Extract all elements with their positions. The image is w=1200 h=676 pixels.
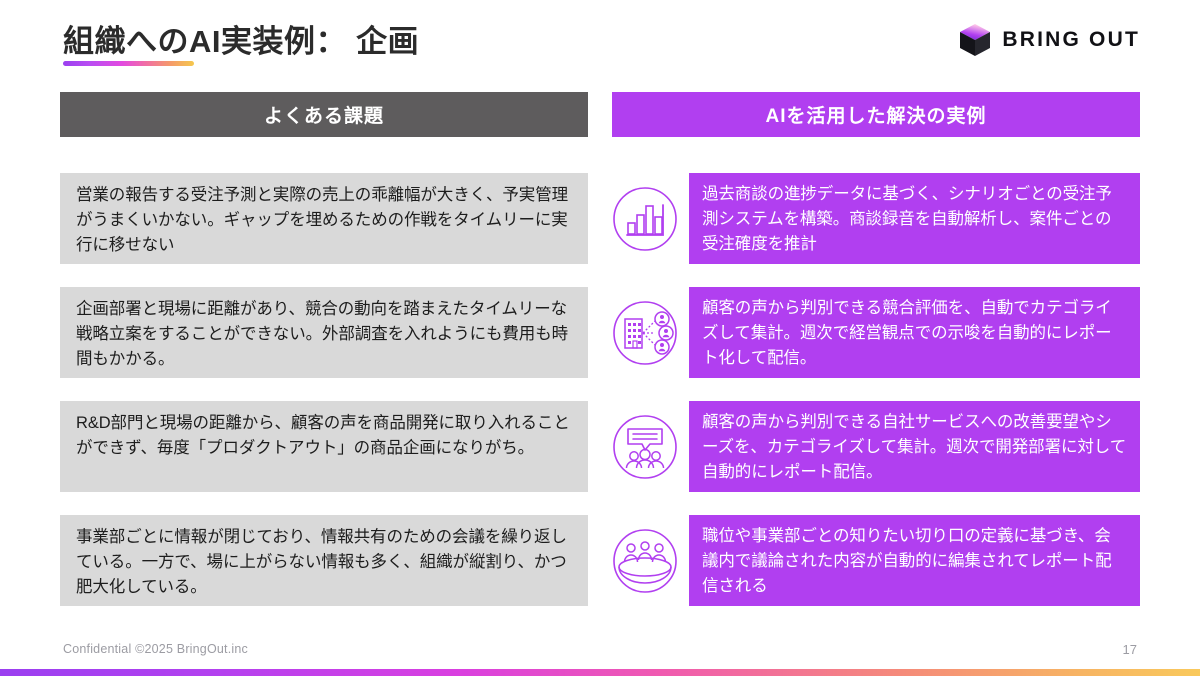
- title-underline-gradient: [63, 61, 194, 66]
- solution-text-box: 顧客の声から判別できる競合評価を、自動でカテゴライズして集計。週次で経営観点での…: [689, 287, 1140, 378]
- solution-card-text: 顧客の声から判別できる自社サービスへの改善要望やシーズを、カテゴライズして集計。…: [702, 410, 1127, 485]
- solution-row[interactable]: 顧客の声から判別できる競合評価を、自動でカテゴライズして集計。週次で経営観点での…: [612, 287, 1140, 378]
- solution-row[interactable]: 過去商談の進捗データに基づく、シナリオごとの受注予測システムを構築。商談録音を自…: [612, 173, 1140, 264]
- cube-logo-icon: [959, 23, 991, 57]
- solution-card-text: 職位や事業部ごとの知りたい切り口の定義に基づき、会議内で議論された内容が自動的に…: [702, 524, 1127, 599]
- speech-bubble-people-icon: [612, 414, 689, 480]
- column-solutions: AIを活用した解決の実例: [612, 92, 1140, 629]
- slide-header: 組織へのAI実装例： 企画 BRING OUT: [0, 0, 1200, 92]
- problem-card[interactable]: R&D部門と現場の距離から、顧客の声を商品開発に取り入れることができず、毎度「プ…: [60, 401, 588, 492]
- solution-text-box: 過去商談の進捗データに基づく、シナリオごとの受注予測システムを構築。商談録音を自…: [689, 173, 1140, 264]
- solution-row[interactable]: 顧客の声から判別できる自社サービスへの改善要望やシーズを、カテゴライズして集計。…: [612, 401, 1140, 492]
- slide-footer: Confidential ©2025 BringOut.inc 17: [0, 632, 1200, 676]
- footer-gradient-bar: [0, 669, 1200, 676]
- solution-card-text: 顧客の声から判別できる競合評価を、自動でカテゴライズして集計。週次で経営観点での…: [702, 296, 1127, 371]
- content-columns: よくある課題 営業の報告する受注予測と実際の売上の乖離幅が大きく、予実管理がうま…: [0, 92, 1200, 632]
- problem-card-text: 営業の報告する受注予測と実際の売上の乖離幅が大きく、予実管理がうまくいかない。ギ…: [76, 183, 572, 258]
- confidential-note: Confidential ©2025 BringOut.inc: [63, 642, 248, 656]
- solution-card-list: 過去商談の進捗データに基づく、シナリオごとの受注予測システムを構築。商談録音を自…: [612, 173, 1140, 606]
- column-header-problems: よくある課題: [60, 92, 588, 137]
- problem-card-text: 企画部署と現場に距離があり、競合の動向を踏まえたタイムリーな戦略立案をすることが…: [76, 297, 572, 372]
- problem-card[interactable]: 企画部署と現場に距離があり、競合の動向を踏まえたタイムリーな戦略立案をすることが…: [60, 287, 588, 378]
- solution-text-box: 顧客の声から判別できる自社サービスへの改善要望やシーズを、カテゴライズして集計。…: [689, 401, 1140, 492]
- solution-text-box: 職位や事業部ごとの知りたい切り口の定義に基づき、会議内で議論された内容が自動的に…: [689, 515, 1140, 606]
- solution-card-text: 過去商談の進捗データに基づく、シナリオごとの受注予測システムを構築。商談録音を自…: [702, 182, 1127, 257]
- page-title: 組織へのAI実装例： 企画: [63, 16, 419, 61]
- building-network-icon: [612, 300, 689, 366]
- brand-logo: BRING OUT: [959, 23, 1140, 57]
- page-number: 17: [1123, 642, 1137, 657]
- column-problems: よくある課題 営業の報告する受注予測と実際の売上の乖離幅が大きく、予実管理がうま…: [60, 92, 588, 629]
- problem-card-text: 事業部ごとに情報が閉じており、情報共有のための会議を繰り返している。一方で、場に…: [76, 525, 572, 600]
- problem-card[interactable]: 営業の報告する受注予測と実際の売上の乖離幅が大きく、予実管理がうまくいかない。ギ…: [60, 173, 588, 264]
- meeting-table-icon: [612, 528, 689, 594]
- brand-name: BRING OUT: [1002, 28, 1140, 52]
- problem-card-text: R&D部門と現場の距離から、顧客の声を商品開発に取り入れることができず、毎度「プ…: [76, 411, 572, 461]
- solution-row[interactable]: 職位や事業部ごとの知りたい切り口の定義に基づき、会議内で議論された内容が自動的に…: [612, 515, 1140, 606]
- problem-card[interactable]: 事業部ごとに情報が閉じており、情報共有のための会議を繰り返している。一方で、場に…: [60, 515, 588, 606]
- column-header-solutions: AIを活用した解決の実例: [612, 92, 1140, 137]
- problem-card-list: 営業の報告する受注予測と実際の売上の乖離幅が大きく、予実管理がうまくいかない。ギ…: [60, 173, 588, 606]
- slide-root: 組織へのAI実装例： 企画 BRING OUT: [0, 0, 1200, 676]
- bar-chart-icon: [612, 186, 689, 252]
